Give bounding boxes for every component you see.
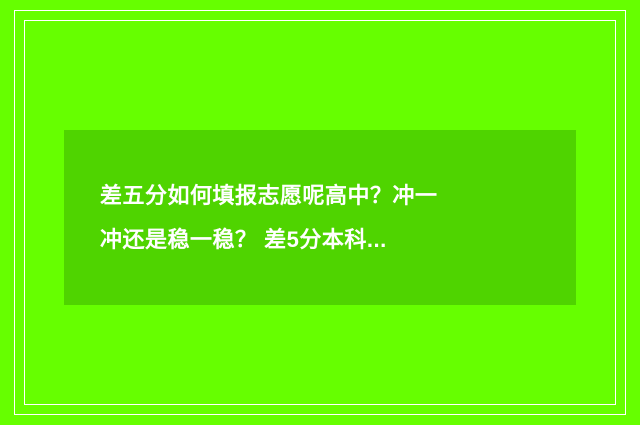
text-panel: 差五分如何填报志愿呢高中？冲一 冲还是稳一稳？ 差5分本科... [64,130,576,305]
image-canvas: 差五分如何填报志愿呢高中？冲一 冲还是稳一稳？ 差5分本科... [0,0,640,425]
headline-line-2: 冲还是稳一稳？ 差5分本科... [64,218,387,262]
headline-line-1: 差五分如何填报志愿呢高中？冲一 [64,174,438,218]
